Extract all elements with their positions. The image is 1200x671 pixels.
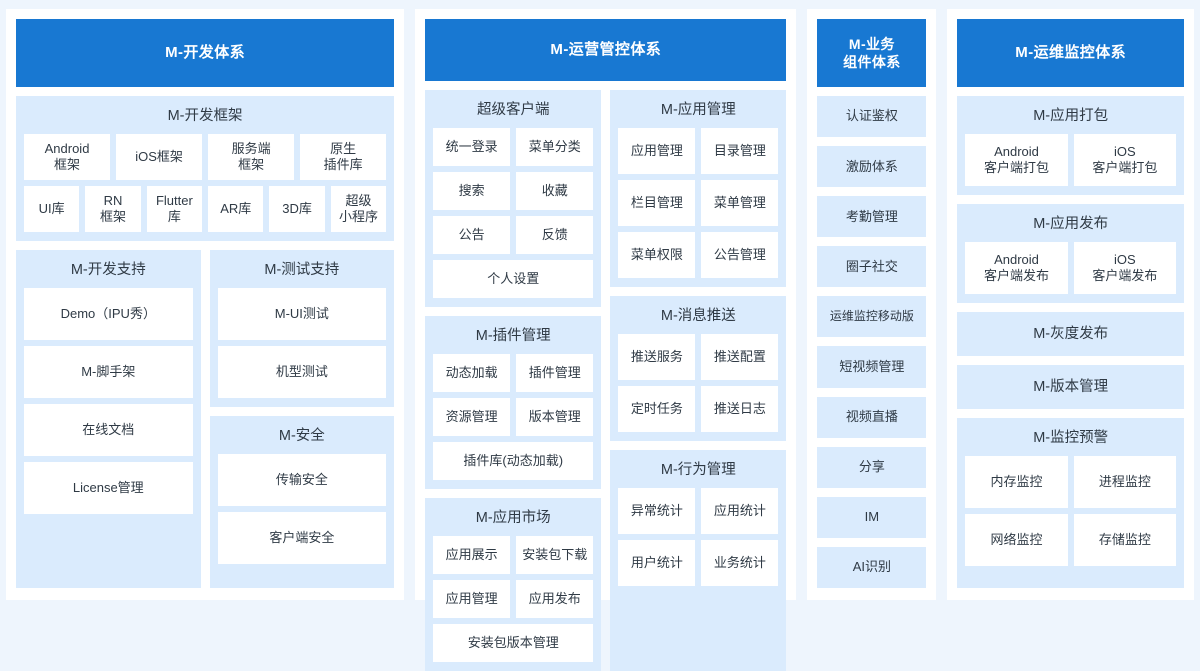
item-cell[interactable]: 原生 插件库	[300, 134, 386, 180]
group-row: 公告 反馈	[433, 216, 593, 254]
item-cell[interactable]: iOS 客户端打包	[1074, 134, 1176, 186]
list-item[interactable]: 圈子社交	[817, 246, 926, 287]
group-row: 定时任务 推送日志	[618, 386, 778, 432]
item-cell[interactable]: 传输安全	[218, 454, 387, 506]
list-item[interactable]: 激励体系	[817, 146, 926, 187]
item-cell[interactable]: 应用统计	[701, 488, 778, 534]
group-monitoring-alert: M-监控预警 内存监控 进程监控 网络监控 存储监控	[957, 418, 1184, 588]
ops-split: 超级客户端 统一登录 菜单分类 搜索 收藏 公告 反馈	[425, 90, 786, 671]
group-title: M-应用市场	[433, 506, 593, 536]
group-title: M-插件管理	[433, 324, 593, 354]
item-cell[interactable]: Android 客户端打包	[965, 134, 1067, 186]
group-row: Android 客户端发布 iOS 客户端发布	[965, 242, 1176, 294]
group-row: 客户端安全	[218, 512, 387, 564]
item-cell[interactable]: AR库	[208, 186, 263, 232]
group-row: 安装包版本管理	[433, 624, 593, 662]
item-cell[interactable]: 资源管理	[433, 398, 510, 436]
group-title: M-测试支持	[218, 258, 387, 288]
architecture-diagram: M-开发体系 M-开发框架 Android 框架 iOS框架 服务端 框架 原生…	[0, 0, 1200, 622]
item-cell[interactable]: 网络监控	[965, 514, 1067, 566]
item-cell[interactable]: 在线文档	[24, 404, 193, 456]
item-cell[interactable]: 应用发布	[516, 580, 593, 618]
list-item[interactable]: 短视频管理	[817, 346, 926, 387]
column-operations-monitoring: M-运维监控体系 M-应用打包 Android 客户端打包 iOS 客户端打包 …	[947, 9, 1194, 600]
group-message-push: M-消息推送 推送服务 推送配置 定时任务 推送日志	[610, 296, 786, 441]
group-test-support: M-测试支持 M-UI测试 机型测试	[210, 250, 395, 407]
group-row: 栏目管理 菜单管理	[618, 180, 778, 226]
group-row: 传输安全	[218, 454, 387, 506]
group-title: M-行为管理	[618, 458, 778, 488]
item-cell[interactable]: iOS 客户端发布	[1074, 242, 1176, 294]
item-cell[interactable]: 应用展示	[433, 536, 510, 574]
item-cell[interactable]: 应用管理	[433, 580, 510, 618]
group-title: M-应用打包	[965, 104, 1176, 134]
item-cell[interactable]: 公告	[433, 216, 510, 254]
item-cell[interactable]: M-脚手架	[24, 346, 193, 398]
item-cell[interactable]: 用户统计	[618, 540, 695, 586]
group-row: 动态加载 插件管理	[433, 354, 593, 392]
group-row: 网络监控 存储监控	[965, 514, 1176, 566]
system-header-operations-monitoring: M-运维监控体系	[957, 19, 1184, 87]
gray-release-item[interactable]: M-灰度发布	[957, 312, 1184, 356]
version-management-item[interactable]: M-版本管理	[957, 365, 1184, 409]
group-dev-framework: M-开发框架 Android 框架 iOS框架 服务端 框架 原生 插件库 UI…	[16, 96, 394, 241]
business-component-list: 认证鉴权 激励体系 考勤管理 圈子社交 运维监控移动版 短视频管理 视频直播 分…	[817, 96, 926, 588]
item-cell[interactable]: 收藏	[516, 172, 593, 210]
item-cell[interactable]: 菜单权限	[618, 232, 695, 278]
group-row: M-UI测试	[218, 288, 387, 340]
group-security: M-安全 传输安全 客户端安全	[210, 416, 395, 588]
group-row: 个人设置	[433, 260, 593, 298]
ops-left: 超级客户端 统一登录 菜单分类 搜索 收藏 公告 反馈	[425, 90, 601, 671]
item-cell[interactable]: 统一登录	[433, 128, 510, 166]
group-title: M-监控预警	[965, 426, 1176, 456]
system-header-business-components: M-业务 组件体系	[817, 19, 926, 87]
item-cell[interactable]: 安装包下载	[516, 536, 593, 574]
item-cell[interactable]: 栏目管理	[618, 180, 695, 226]
group-row: 应用管理 应用发布	[433, 580, 593, 618]
item-cell[interactable]: RN 框架	[85, 186, 140, 232]
item-cell[interactable]: 进程监控	[1074, 456, 1176, 508]
item-cell[interactable]: Flutter 库	[147, 186, 202, 232]
group-title: 超级客户端	[433, 98, 593, 128]
item-cell[interactable]: Demo（IPU秀）	[24, 288, 193, 340]
item-cell[interactable]: 动态加载	[433, 354, 510, 392]
list-item[interactable]: 视频直播	[817, 397, 926, 438]
dev-support-left: M-开发支持 Demo（IPU秀） M-脚手架 在线文档 License管理	[16, 250, 201, 588]
list-item[interactable]: 考勤管理	[817, 196, 926, 237]
item-cell[interactable]: iOS框架	[116, 134, 202, 180]
dev-support-split: M-开发支持 Demo（IPU秀） M-脚手架 在线文档 License管理	[16, 250, 394, 588]
item-cell[interactable]: 目录管理	[701, 128, 778, 174]
group-row: 机型测试	[218, 346, 387, 398]
item-cell[interactable]: Android 框架	[24, 134, 110, 180]
list-item[interactable]: AI识别	[817, 547, 926, 588]
item-cell[interactable]: 内存监控	[965, 456, 1067, 508]
item-cell[interactable]: 存储监控	[1074, 514, 1176, 566]
item-cell[interactable]: 个人设置	[433, 260, 593, 298]
item-cell[interactable]: 异常统计	[618, 488, 695, 534]
group-row: 插件库(动态加载)	[433, 442, 593, 480]
item-cell[interactable]: 3D库	[269, 186, 324, 232]
system-header-development: M-开发体系	[16, 19, 394, 87]
item-cell[interactable]: 客户端安全	[218, 512, 387, 564]
group-row: 搜索 收藏	[433, 172, 593, 210]
item-cell[interactable]: 超级 小程序	[331, 186, 386, 232]
ops-right: M-应用管理 应用管理 目录管理 栏目管理 菜单管理 菜单权限 公告管理	[610, 90, 786, 671]
item-cell[interactable]: 安装包版本管理	[433, 624, 593, 662]
group-app-market: M-应用市场 应用展示 安装包下载 应用管理 应用发布 安装包版本管理	[425, 498, 601, 671]
group-row: 在线文档	[24, 404, 193, 456]
item-cell[interactable]: 插件库(动态加载)	[433, 442, 593, 480]
column-operations-management: M-运营管控体系 超级客户端 统一登录 菜单分类 搜索 收藏	[415, 9, 796, 600]
list-item[interactable]: 运维监控移动版	[817, 296, 926, 337]
item-cell[interactable]: 推送日志	[701, 386, 778, 432]
group-row: 应用管理 目录管理	[618, 128, 778, 174]
group-dev-support: M-开发支持 Demo（IPU秀） M-脚手架 在线文档 License管理	[16, 250, 201, 588]
group-super-client: 超级客户端 统一登录 菜单分类 搜索 收藏 公告 反馈	[425, 90, 601, 307]
group-plugin-management: M-插件管理 动态加载 插件管理 资源管理 版本管理 插件库(动态加载)	[425, 316, 601, 489]
group-row: 推送服务 推送配置	[618, 334, 778, 380]
group-row: License管理	[24, 462, 193, 514]
group-row: 统一登录 菜单分类	[433, 128, 593, 166]
group-row: Android 客户端打包 iOS 客户端打包	[965, 134, 1176, 186]
group-app-management: M-应用管理 应用管理 目录管理 栏目管理 菜单管理 菜单权限 公告管理	[610, 90, 786, 287]
item-cell[interactable]: 业务统计	[701, 540, 778, 586]
group-row: M-脚手架	[24, 346, 193, 398]
group-title: M-安全	[218, 424, 387, 454]
group-app-release: M-应用发布 Android 客户端发布 iOS 客户端发布	[957, 204, 1184, 303]
group-title: M-应用管理	[618, 98, 778, 128]
group-row: Android 框架 iOS框架 服务端 框架 原生 插件库	[24, 134, 386, 180]
item-cell[interactable]: 公告管理	[701, 232, 778, 278]
column-business-components: M-业务 组件体系 认证鉴权 激励体系 考勤管理 圈子社交 运维监控移动版 短视…	[807, 9, 936, 600]
group-row: UI库 RN 框架 Flutter 库 AR库 3D库 超级 小程序	[24, 186, 386, 232]
system-header-operations-management: M-运营管控体系	[425, 19, 786, 81]
group-row: 应用展示 安装包下载	[433, 536, 593, 574]
item-cell[interactable]: License管理	[24, 462, 193, 514]
group-row: 用户统计 业务统计	[618, 540, 778, 586]
group-title: M-消息推送	[618, 304, 778, 334]
group-app-packaging: M-应用打包 Android 客户端打包 iOS 客户端打包	[957, 96, 1184, 195]
list-item[interactable]: 认证鉴权	[817, 96, 926, 137]
group-row: 资源管理 版本管理	[433, 398, 593, 436]
item-cell[interactable]: 菜单分类	[516, 128, 593, 166]
item-cell[interactable]: 搜索	[433, 172, 510, 210]
group-title: M-开发支持	[24, 258, 193, 288]
group-behavior-management: M-行为管理 异常统计 应用统计 用户统计 业务统计	[610, 450, 786, 671]
group-row: 内存监控 进程监控	[965, 456, 1176, 508]
group-title: M-应用发布	[965, 212, 1176, 242]
group-row: 异常统计 应用统计	[618, 488, 778, 534]
column-development: M-开发体系 M-开发框架 Android 框架 iOS框架 服务端 框架 原生…	[6, 9, 404, 600]
item-cell[interactable]: 版本管理	[516, 398, 593, 436]
item-cell[interactable]: 机型测试	[218, 346, 387, 398]
item-cell[interactable]: Android 客户端发布	[965, 242, 1067, 294]
item-cell[interactable]: 定时任务	[618, 386, 695, 432]
item-cell[interactable]: 应用管理	[618, 128, 695, 174]
item-cell[interactable]: 推送配置	[701, 334, 778, 380]
group-row: 菜单权限 公告管理	[618, 232, 778, 278]
item-cell[interactable]: 推送服务	[618, 334, 695, 380]
list-item[interactable]: 分享	[817, 447, 926, 488]
item-cell[interactable]: 菜单管理	[701, 180, 778, 226]
item-cell[interactable]: 插件管理	[516, 354, 593, 392]
item-cell[interactable]: UI库	[24, 186, 79, 232]
group-title: M-开发框架	[24, 104, 386, 134]
item-cell[interactable]: M-UI测试	[218, 288, 387, 340]
list-item[interactable]: IM	[817, 497, 926, 538]
dev-support-right: M-测试支持 M-UI测试 机型测试 M-安全 传输安全	[210, 250, 395, 588]
group-row: Demo（IPU秀）	[24, 288, 193, 340]
item-cell[interactable]: 服务端 框架	[208, 134, 294, 180]
item-cell[interactable]: 反馈	[516, 216, 593, 254]
